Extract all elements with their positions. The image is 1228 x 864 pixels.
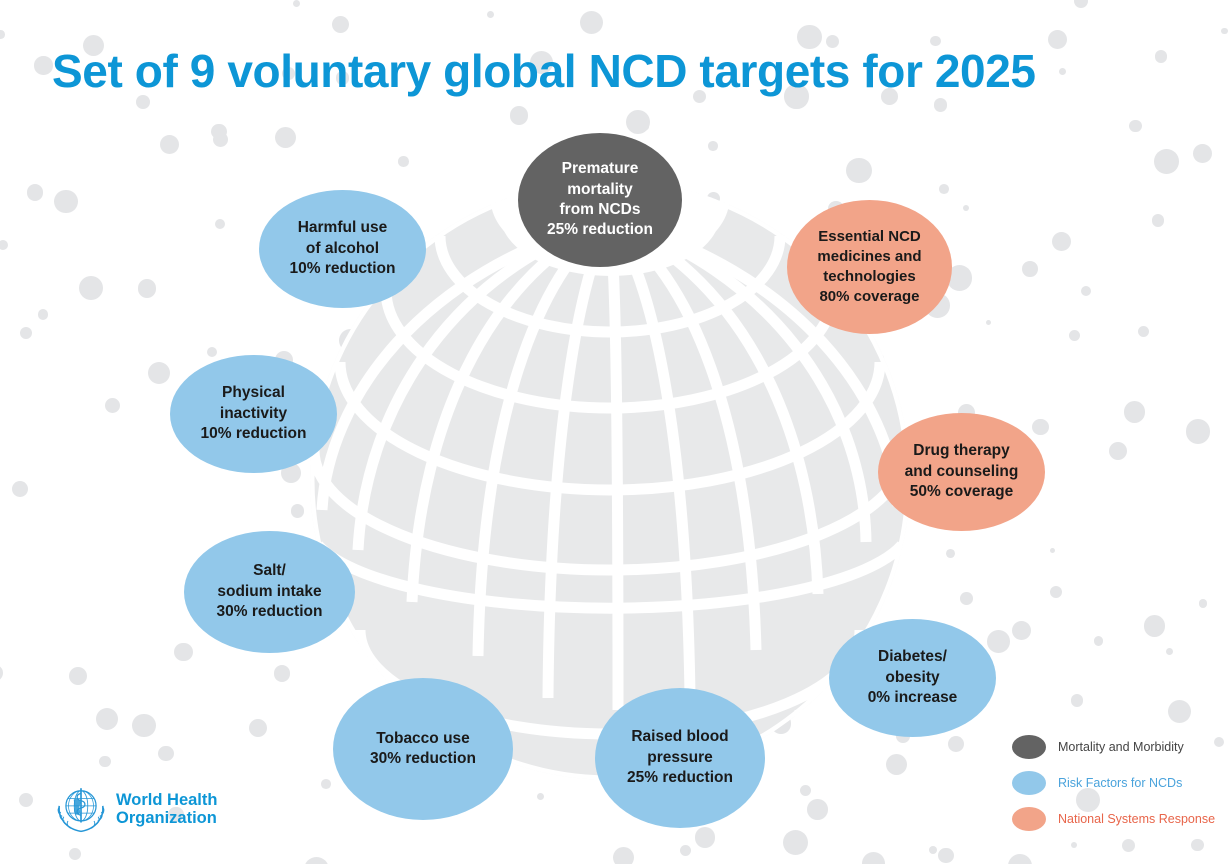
target-bubble-label: Tobacco use 30% reduction — [364, 729, 482, 770]
legend-row: Risk Factors for NCDs — [1012, 772, 1212, 794]
target-bubble-harmful-alcohol: Harmful use of alcohol 10% reduction — [259, 190, 426, 308]
background-dot — [680, 845, 691, 856]
background-dot — [0, 665, 3, 681]
background-dot — [69, 667, 87, 685]
background-dot — [54, 190, 77, 213]
background-dot — [332, 16, 349, 33]
background-dot — [96, 708, 118, 730]
legend: Mortality and MorbidityRisk Factors for … — [1012, 736, 1212, 844]
background-dot — [1155, 50, 1168, 63]
background-dot — [99, 756, 111, 768]
background-dot — [69, 848, 81, 860]
legend-label: Mortality and Morbidity — [1058, 740, 1184, 754]
background-dot — [275, 127, 296, 148]
background-dot — [1124, 401, 1146, 423]
target-bubble-label: Drug therapy and counseling 50% coverage — [899, 441, 1025, 502]
background-dot — [626, 110, 650, 134]
who-logo: World Health Organization — [55, 783, 217, 835]
background-dot — [207, 347, 217, 357]
background-dot — [946, 549, 955, 558]
legend-swatch-icon — [1012, 807, 1046, 831]
target-bubble-drug-therapy: Drug therapy and counseling 50% coverage — [878, 413, 1045, 531]
background-dot — [987, 630, 1010, 653]
legend-label: Risk Factors for NCDs — [1058, 776, 1182, 790]
background-dot — [1032, 419, 1049, 436]
background-dot — [1138, 326, 1149, 337]
target-bubble-label: Physical inactivity 10% reduction — [195, 383, 313, 444]
background-dot — [960, 592, 973, 605]
background-dot — [105, 398, 120, 413]
background-dot — [929, 846, 937, 854]
who-logo-text: World Health Organization — [116, 791, 217, 828]
background-dot — [948, 736, 964, 752]
background-dot — [20, 327, 32, 339]
who-logo-line2: Organization — [116, 809, 217, 827]
background-dot — [510, 106, 528, 124]
background-dot — [19, 793, 33, 807]
background-dot — [38, 309, 49, 320]
background-dot — [132, 714, 156, 738]
target-bubble-essential-medicines: Essential NCD medicines and technologies… — [787, 200, 952, 334]
background-dot — [138, 279, 156, 297]
background-dot — [580, 11, 603, 34]
background-dot — [213, 132, 228, 147]
target-bubble-salt-sodium: Salt/ sodium intake 30% reduction — [184, 531, 355, 653]
background-dot — [27, 184, 44, 201]
legend-swatch-icon — [1012, 771, 1046, 795]
background-dot — [1154, 149, 1179, 174]
background-dot — [1144, 615, 1165, 636]
background-dot — [1094, 636, 1104, 646]
background-dot — [304, 857, 330, 864]
legend-row: National Systems Response — [1012, 808, 1212, 830]
background-dot — [963, 205, 969, 211]
background-dot — [1109, 442, 1127, 460]
legend-label: National Systems Response — [1058, 812, 1215, 826]
background-dot — [643, 124, 649, 130]
background-dot — [487, 11, 494, 18]
background-dot — [695, 827, 715, 847]
background-dot — [1022, 261, 1038, 277]
background-dot — [160, 135, 180, 155]
target-bubble-tobacco-use: Tobacco use 30% reduction — [333, 678, 513, 820]
background-dot — [249, 719, 267, 737]
background-dot — [0, 240, 8, 250]
background-dot — [174, 643, 192, 661]
background-dot — [1081, 286, 1091, 296]
background-dot — [1048, 30, 1067, 49]
background-dot — [1052, 232, 1071, 251]
background-dot — [1193, 144, 1212, 163]
background-dot — [211, 124, 227, 140]
target-bubble-label: Premature mortality from NCDs 25% reduct… — [541, 159, 659, 241]
background-dot — [158, 746, 173, 761]
background-dot — [1012, 621, 1031, 640]
background-dot — [0, 30, 5, 39]
target-bubble-label: Raised blood pressure 25% reduction — [621, 727, 739, 788]
background-dot — [537, 793, 544, 800]
background-dot — [79, 276, 103, 300]
background-dot — [1166, 648, 1173, 655]
target-bubble-physical-inactivity: Physical inactivity 10% reduction — [170, 355, 337, 473]
background-dot — [1168, 700, 1191, 723]
background-dot — [986, 320, 991, 325]
background-dot — [12, 481, 28, 497]
background-dot — [1050, 586, 1062, 598]
background-dot — [862, 852, 886, 864]
background-dot — [613, 847, 635, 864]
background-dot — [1221, 28, 1227, 34]
background-dot — [148, 362, 170, 384]
background-dot — [1129, 120, 1142, 133]
background-dot — [274, 665, 291, 682]
background-dot — [1199, 599, 1208, 608]
background-dot — [1059, 68, 1066, 75]
background-dot — [938, 848, 953, 863]
background-dot — [1050, 548, 1055, 553]
infographic-page: Set of 9 voluntary global NCD targets fo… — [0, 0, 1228, 864]
page-title: Set of 9 voluntary global NCD targets fo… — [52, 44, 1036, 98]
who-emblem-icon — [55, 783, 107, 835]
background-dot — [1186, 419, 1210, 443]
legend-swatch-icon — [1012, 735, 1046, 759]
background-dot — [1071, 694, 1083, 706]
target-bubble-label: Diabetes/ obesity 0% increase — [862, 647, 964, 708]
target-bubble-label: Essential NCD medicines and technologies… — [811, 227, 927, 306]
target-bubble-diabetes-obesity: Diabetes/ obesity 0% increase — [829, 619, 996, 737]
background-dot — [1074, 0, 1088, 8]
background-dot — [807, 799, 828, 820]
background-dot — [1069, 330, 1080, 341]
background-dot — [934, 98, 948, 112]
background-dot — [783, 830, 808, 855]
target-bubble-label: Salt/ sodium intake 30% reduction — [211, 561, 329, 622]
legend-row: Mortality and Morbidity — [1012, 736, 1212, 758]
background-dot — [1008, 854, 1032, 864]
who-logo-line1: World Health — [116, 791, 217, 809]
target-bubble-raised-blood-pressure: Raised blood pressure 25% reduction — [595, 688, 765, 828]
target-bubble-premature-mortality: Premature mortality from NCDs 25% reduct… — [518, 133, 682, 267]
background-dot — [293, 0, 300, 7]
background-dot — [939, 184, 949, 194]
background-dot — [215, 219, 225, 229]
background-dot — [34, 56, 52, 74]
background-dot — [1152, 214, 1165, 227]
background-dot — [1214, 737, 1224, 747]
target-bubble-label: Harmful use of alcohol 10% reduction — [284, 218, 402, 279]
